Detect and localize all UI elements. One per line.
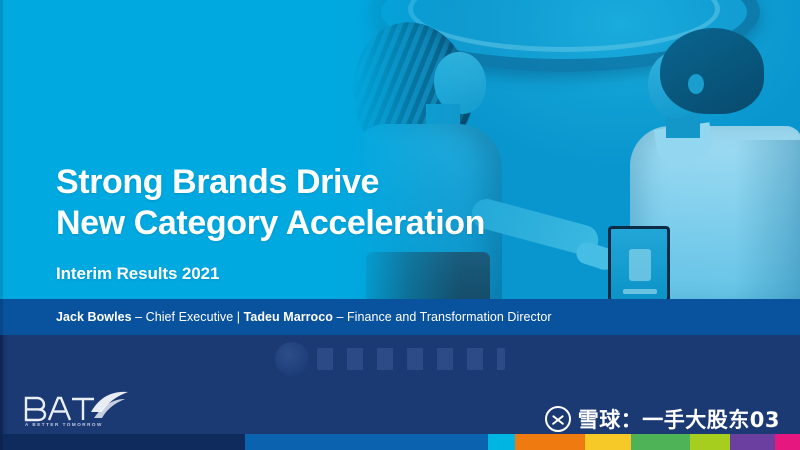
- slide-title-line-2: New Category Acceleration: [56, 203, 485, 244]
- title-block: Strong Brands Drive New Category Acceler…: [56, 162, 485, 284]
- colorbar-segment-dark-navy: [0, 434, 245, 450]
- bat-logo-tagline: A BETTER TOMORROW: [25, 422, 103, 427]
- speaker-credits: Jack Bowles – Chief Executive | Tadeu Ma…: [56, 310, 552, 324]
- xueqiu-watermark: 雪球：一手大股东03: [545, 402, 780, 436]
- bat-logo: A BETTER TOMORROW: [22, 390, 132, 434]
- xueqiu-watermark-text: 雪球：一手大股东03: [578, 404, 780, 434]
- slide-title-line-1: Strong Brands Drive: [56, 162, 485, 203]
- speaker-role-secondary: – Finance and Transformation Director: [333, 310, 552, 324]
- colorbar-segment-lime: [690, 434, 730, 450]
- colorbar-segment-orange: [515, 434, 585, 450]
- ghost-circle-icon: [275, 342, 309, 376]
- speaker-name-primary: Jack Bowles: [56, 310, 132, 324]
- brand-color-bar: [0, 434, 800, 450]
- bat-logo-svg: [22, 390, 132, 434]
- slide-subtitle: Interim Results 2021: [56, 264, 485, 284]
- colorbar-segment-yellow: [585, 434, 631, 450]
- background-ghost-watermark: [275, 338, 505, 380]
- ghost-text-bars: [317, 348, 505, 370]
- speaker-name-secondary: Tadeu Marroco: [244, 310, 333, 324]
- colorbar-segment-purple: [730, 434, 775, 450]
- colorbar-segment-green: [631, 434, 690, 450]
- speaker-role-primary: – Chief Executive |: [132, 310, 244, 324]
- xueqiu-logo-icon: [545, 406, 571, 432]
- colorbar-segment-cyan: [488, 434, 515, 450]
- slide-left-border: [0, 0, 3, 450]
- speaker-band: Jack Bowles – Chief Executive | Tadeu Ma…: [0, 299, 800, 335]
- colorbar-segment-medium-blue: [245, 434, 488, 450]
- colorbar-segment-magenta: [775, 434, 800, 450]
- presentation-slide: Strong Brands Drive New Category Acceler…: [0, 0, 800, 450]
